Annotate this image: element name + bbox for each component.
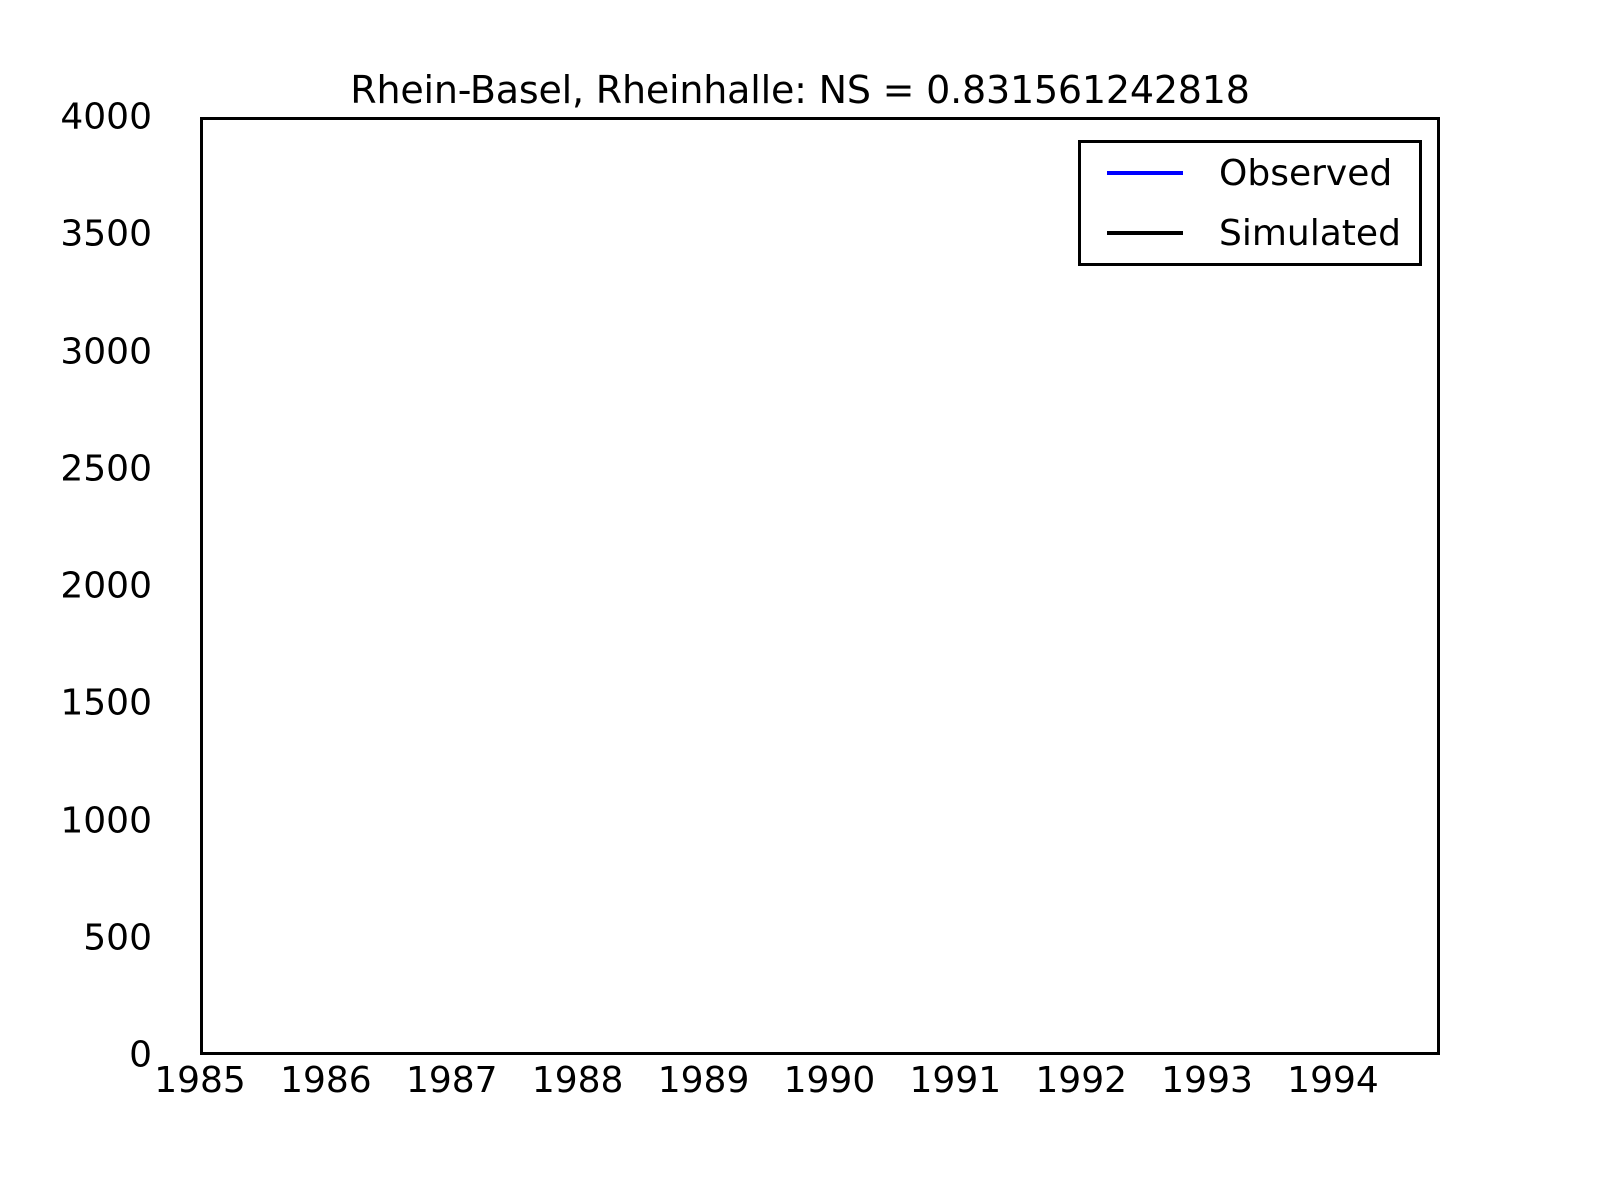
chart-legend[interactable]: Observed Simulated: [1078, 140, 1422, 266]
y-tick-label: 3500: [0, 214, 152, 255]
legend-entry-observed: Observed: [1081, 145, 1419, 201]
y-tick-label: 2000: [0, 566, 152, 607]
y-tick-label: 2500: [0, 448, 152, 489]
y-tick-label: 3000: [0, 331, 152, 372]
chart-title: Rhein-Basel, Rheinhalle: NS = 0.83156124…: [0, 68, 1600, 112]
x-tick-label: 1994: [1223, 1060, 1443, 1101]
legend-entry-simulated: Simulated: [1081, 205, 1419, 261]
y-tick-label: 1500: [0, 683, 152, 724]
y-tick-label: 500: [0, 917, 152, 958]
legend-label-simulated: Simulated: [1219, 213, 1401, 254]
y-tick-label: 1000: [0, 800, 152, 841]
y-tick-label: 4000: [0, 97, 152, 138]
legend-swatch-observed: [1107, 171, 1183, 175]
chart-figure: Rhein-Basel, Rheinhalle: NS = 0.83156124…: [0, 0, 1600, 1200]
legend-swatch-simulated: [1107, 231, 1183, 235]
legend-label-observed: Observed: [1219, 153, 1392, 194]
